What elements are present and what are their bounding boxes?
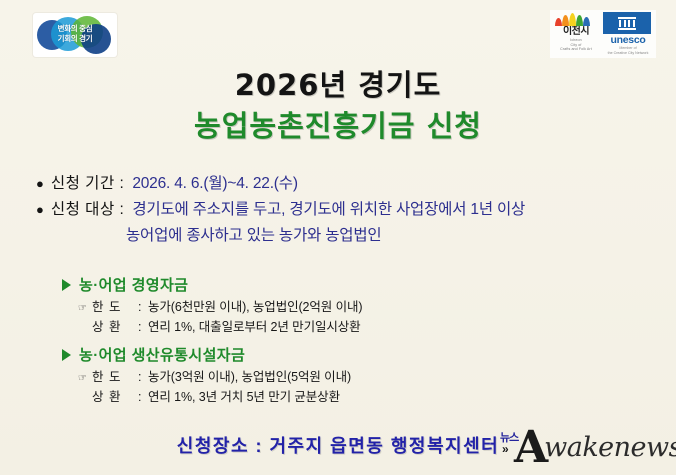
fund-heading-management: 농·어업 경영자금	[62, 274, 658, 295]
fund-row-repayment: 상 환 : 연리 1%, 3년 거치 5년 만기 균분상환	[78, 388, 658, 406]
fund-key-limit: 한 도	[92, 298, 138, 316]
fund-detail-lines-facility: ☞ 한 도 : 농가(3억원 이내), 농업법인(5억원 이내) 상 환 : 연…	[78, 368, 658, 406]
watermark-wordmark: wakenews	[544, 431, 676, 465]
awakenews-watermark: 뉴스 » A wakenews	[498, 425, 670, 471]
gyeonggi-slogan: 변화의 중심 기회의 경기	[33, 24, 117, 44]
fund-colon: :	[138, 318, 148, 336]
fund-heading-label: 농·어업 경영자금	[79, 274, 188, 295]
fund-row-repayment: 상 환 : 연리 1%, 대출일로부터 2년 만기일시상환	[78, 318, 658, 336]
fund-heading-facility: 농·어업 생산유통시설자금	[62, 344, 658, 365]
info-label-target: 신청 대상 :	[51, 198, 124, 222]
fund-section-facility: 농·어업 생산유통시설자금 ☞ 한 도 : 농가(3억원 이내), 농업법인(5…	[62, 344, 658, 406]
application-info-list: ● 신청 기간 : 2026. 4. 6.(월)~4. 22.(수) ● 신청 …	[36, 172, 658, 248]
partner-logos: 이천시 Icheon City of Crafts and Folk Art u…	[550, 10, 656, 58]
fund-heading-label: 농·어업 생산유통시설자금	[79, 344, 245, 365]
icheon-rainbow-icon	[553, 12, 599, 26]
triangle-bullet-icon	[62, 349, 71, 361]
info-row-target: ● 신청 대상 : 경기도에 주소지를 두고, 경기도에 위치한 사업장에서 1…	[36, 198, 658, 222]
info-label-period: 신청 기간 :	[51, 172, 124, 196]
fund-colon: :	[138, 368, 148, 386]
icheon-city-logo: 이천시 Icheon City of Crafts and Folk Art	[553, 12, 599, 52]
poster-title-program: 농업농촌진흥기금 신청	[0, 103, 676, 145]
fund-colon: :	[138, 298, 148, 316]
watermark-chevron-icon: »	[502, 442, 506, 456]
info-value-target: 경기도에 주소지를 두고, 경기도에 위치한 사업장에서 1년 이상	[132, 198, 525, 222]
fund-sections: 농·어업 경영자금 ☞ 한 도 : 농가(6천만원 이내), 농업법인(2억원 …	[62, 274, 658, 406]
fund-value-repayment: 연리 1%, 3년 거치 5년 만기 균분상환	[148, 388, 340, 406]
unesco-temple-icon	[603, 12, 651, 34]
fund-colon: :	[138, 388, 148, 406]
info-value-period: 2026. 4. 6.(월)~4. 22.(수)	[132, 172, 297, 196]
watermark-letter-a: A	[514, 426, 548, 470]
fund-section-management: 농·어업 경영자금 ☞ 한 도 : 농가(6천만원 이내), 농업법인(2억원 …	[62, 274, 658, 336]
fund-value-limit: 농가(3억원 이내), 농업법인(5억원 이내)	[148, 368, 351, 386]
unesco-creative-city-logo: unesco Member of the Creative City Netwo…	[603, 12, 653, 55]
unesco-sub-line2: the Creative City Network	[603, 51, 653, 56]
triangle-bullet-icon	[62, 279, 71, 291]
gyeonggi-slogan-line1: 변화의 중심	[33, 24, 117, 34]
fund-row-limit: ☞ 한 도 : 농가(3억원 이내), 농업법인(5억원 이내)	[78, 368, 658, 388]
bullet-dot-icon: ●	[36, 172, 44, 196]
unesco-wordmark: unesco	[603, 34, 653, 46]
poster-title-year: 2026년 경기도	[0, 62, 676, 104]
fund-key-limit: 한 도	[92, 368, 138, 386]
fund-section-spacer	[62, 336, 658, 344]
fund-row-limit: ☞ 한 도 : 농가(6천만원 이내), 농업법인(2억원 이내)	[78, 298, 658, 318]
bullet-dot-icon: ●	[36, 198, 44, 222]
fund-value-limit: 농가(6천만원 이내), 농업법인(2억원 이내)	[148, 298, 362, 316]
icheon-city-name: 이천시	[553, 26, 599, 38]
info-row-period: ● 신청 기간 : 2026. 4. 6.(월)~4. 22.(수)	[36, 172, 658, 196]
poster-canvas: 변화의 중심 기회의 경기 이천시 Icheon City of Crafts …	[0, 0, 676, 475]
pointing-hand-icon: ☞	[78, 300, 92, 318]
gyeonggi-slogan-line2: 기회의 경기	[33, 34, 117, 44]
pointing-hand-icon: ☞	[78, 370, 92, 388]
gyeonggi-province-logo: 변화의 중심 기회의 경기	[33, 13, 117, 57]
fund-key-repayment: 상 환	[92, 318, 138, 336]
fund-value-repayment: 연리 1%, 대출일로부터 2년 만기일시상환	[148, 318, 361, 336]
info-value-target-continued: 농어업에 종사하고 있는 농가와 농업법인	[126, 224, 658, 248]
icheon-sub-line3: Crafts and Folk Art	[553, 47, 599, 52]
fund-detail-lines-management: ☞ 한 도 : 농가(6천만원 이내), 농업법인(2억원 이내) 상 환 : …	[78, 298, 658, 336]
fund-key-repayment: 상 환	[92, 388, 138, 406]
